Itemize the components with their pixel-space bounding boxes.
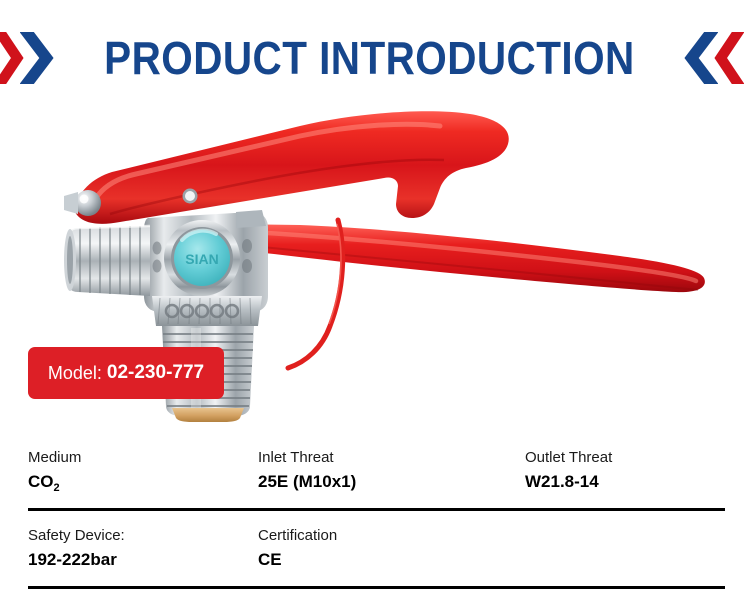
spec-row-2: Safety Device: 192-222bar Certification … bbox=[0, 518, 750, 596]
header-chevrons-left bbox=[6, 32, 54, 84]
valve-cap: SIAN bbox=[164, 220, 240, 296]
header-chevrons-right bbox=[684, 32, 744, 84]
spec-cell-inlet-threat: Inlet Threat 25E (M10x1) bbox=[258, 448, 356, 494]
spec-cell-certification: Certification CE bbox=[258, 526, 337, 572]
spec-cell-safety-device: Safety Device: 192-222bar bbox=[28, 526, 125, 572]
model-value: 02-230-777 bbox=[107, 362, 204, 384]
spec-value: 192-222bar bbox=[28, 548, 125, 572]
spec-label: Medium bbox=[28, 448, 81, 468]
spec-label: Outlet Threat bbox=[525, 448, 612, 468]
product-introduction-page: PRODUCT INTRODUCTION bbox=[0, 0, 750, 611]
spec-value: CE bbox=[258, 548, 337, 572]
spec-cell-outlet-threat: Outlet Threat W21.8-14 bbox=[525, 448, 612, 494]
spec-row-1: Medium CO2 Inlet Threat 25E (M10x1) Outl… bbox=[0, 440, 750, 518]
spec-label: Certification bbox=[258, 526, 337, 546]
model-badge: Model: 02-230-777 bbox=[28, 347, 224, 399]
spec-value: CO2 bbox=[28, 470, 81, 500]
pivot-ball-icon bbox=[75, 190, 101, 216]
cap-brand-text: SIAN bbox=[185, 251, 218, 267]
upper-lever-handle bbox=[64, 111, 509, 224]
spec-divider-1 bbox=[28, 508, 725, 511]
specifications-table: Medium CO2 Inlet Threat 25E (M10x1) Outl… bbox=[0, 440, 750, 596]
spec-cell-medium: Medium CO2 bbox=[28, 448, 81, 500]
spec-divider-2 bbox=[28, 586, 725, 589]
spec-value-subscript: 2 bbox=[54, 482, 60, 494]
page-header: PRODUCT INTRODUCTION bbox=[0, 26, 750, 90]
spec-value: 25E (M10x1) bbox=[258, 470, 356, 494]
knurled-band bbox=[152, 296, 262, 326]
red-chevron-left-icon bbox=[714, 32, 744, 84]
spec-value-text: CO bbox=[28, 472, 54, 491]
outlet-thread bbox=[64, 226, 150, 296]
brass-seat bbox=[172, 408, 244, 422]
spec-value: W21.8-14 bbox=[525, 470, 612, 494]
blue-chevron-left-icon bbox=[684, 32, 718, 84]
page-title: PRODUCT INTRODUCTION bbox=[91, 35, 646, 81]
red-chevron-right-icon bbox=[0, 32, 24, 84]
model-label: Model: bbox=[48, 363, 102, 384]
spec-label: Inlet Threat bbox=[258, 448, 356, 468]
blue-chevron-right-icon bbox=[20, 32, 54, 84]
spec-label: Safety Device: bbox=[28, 526, 125, 546]
